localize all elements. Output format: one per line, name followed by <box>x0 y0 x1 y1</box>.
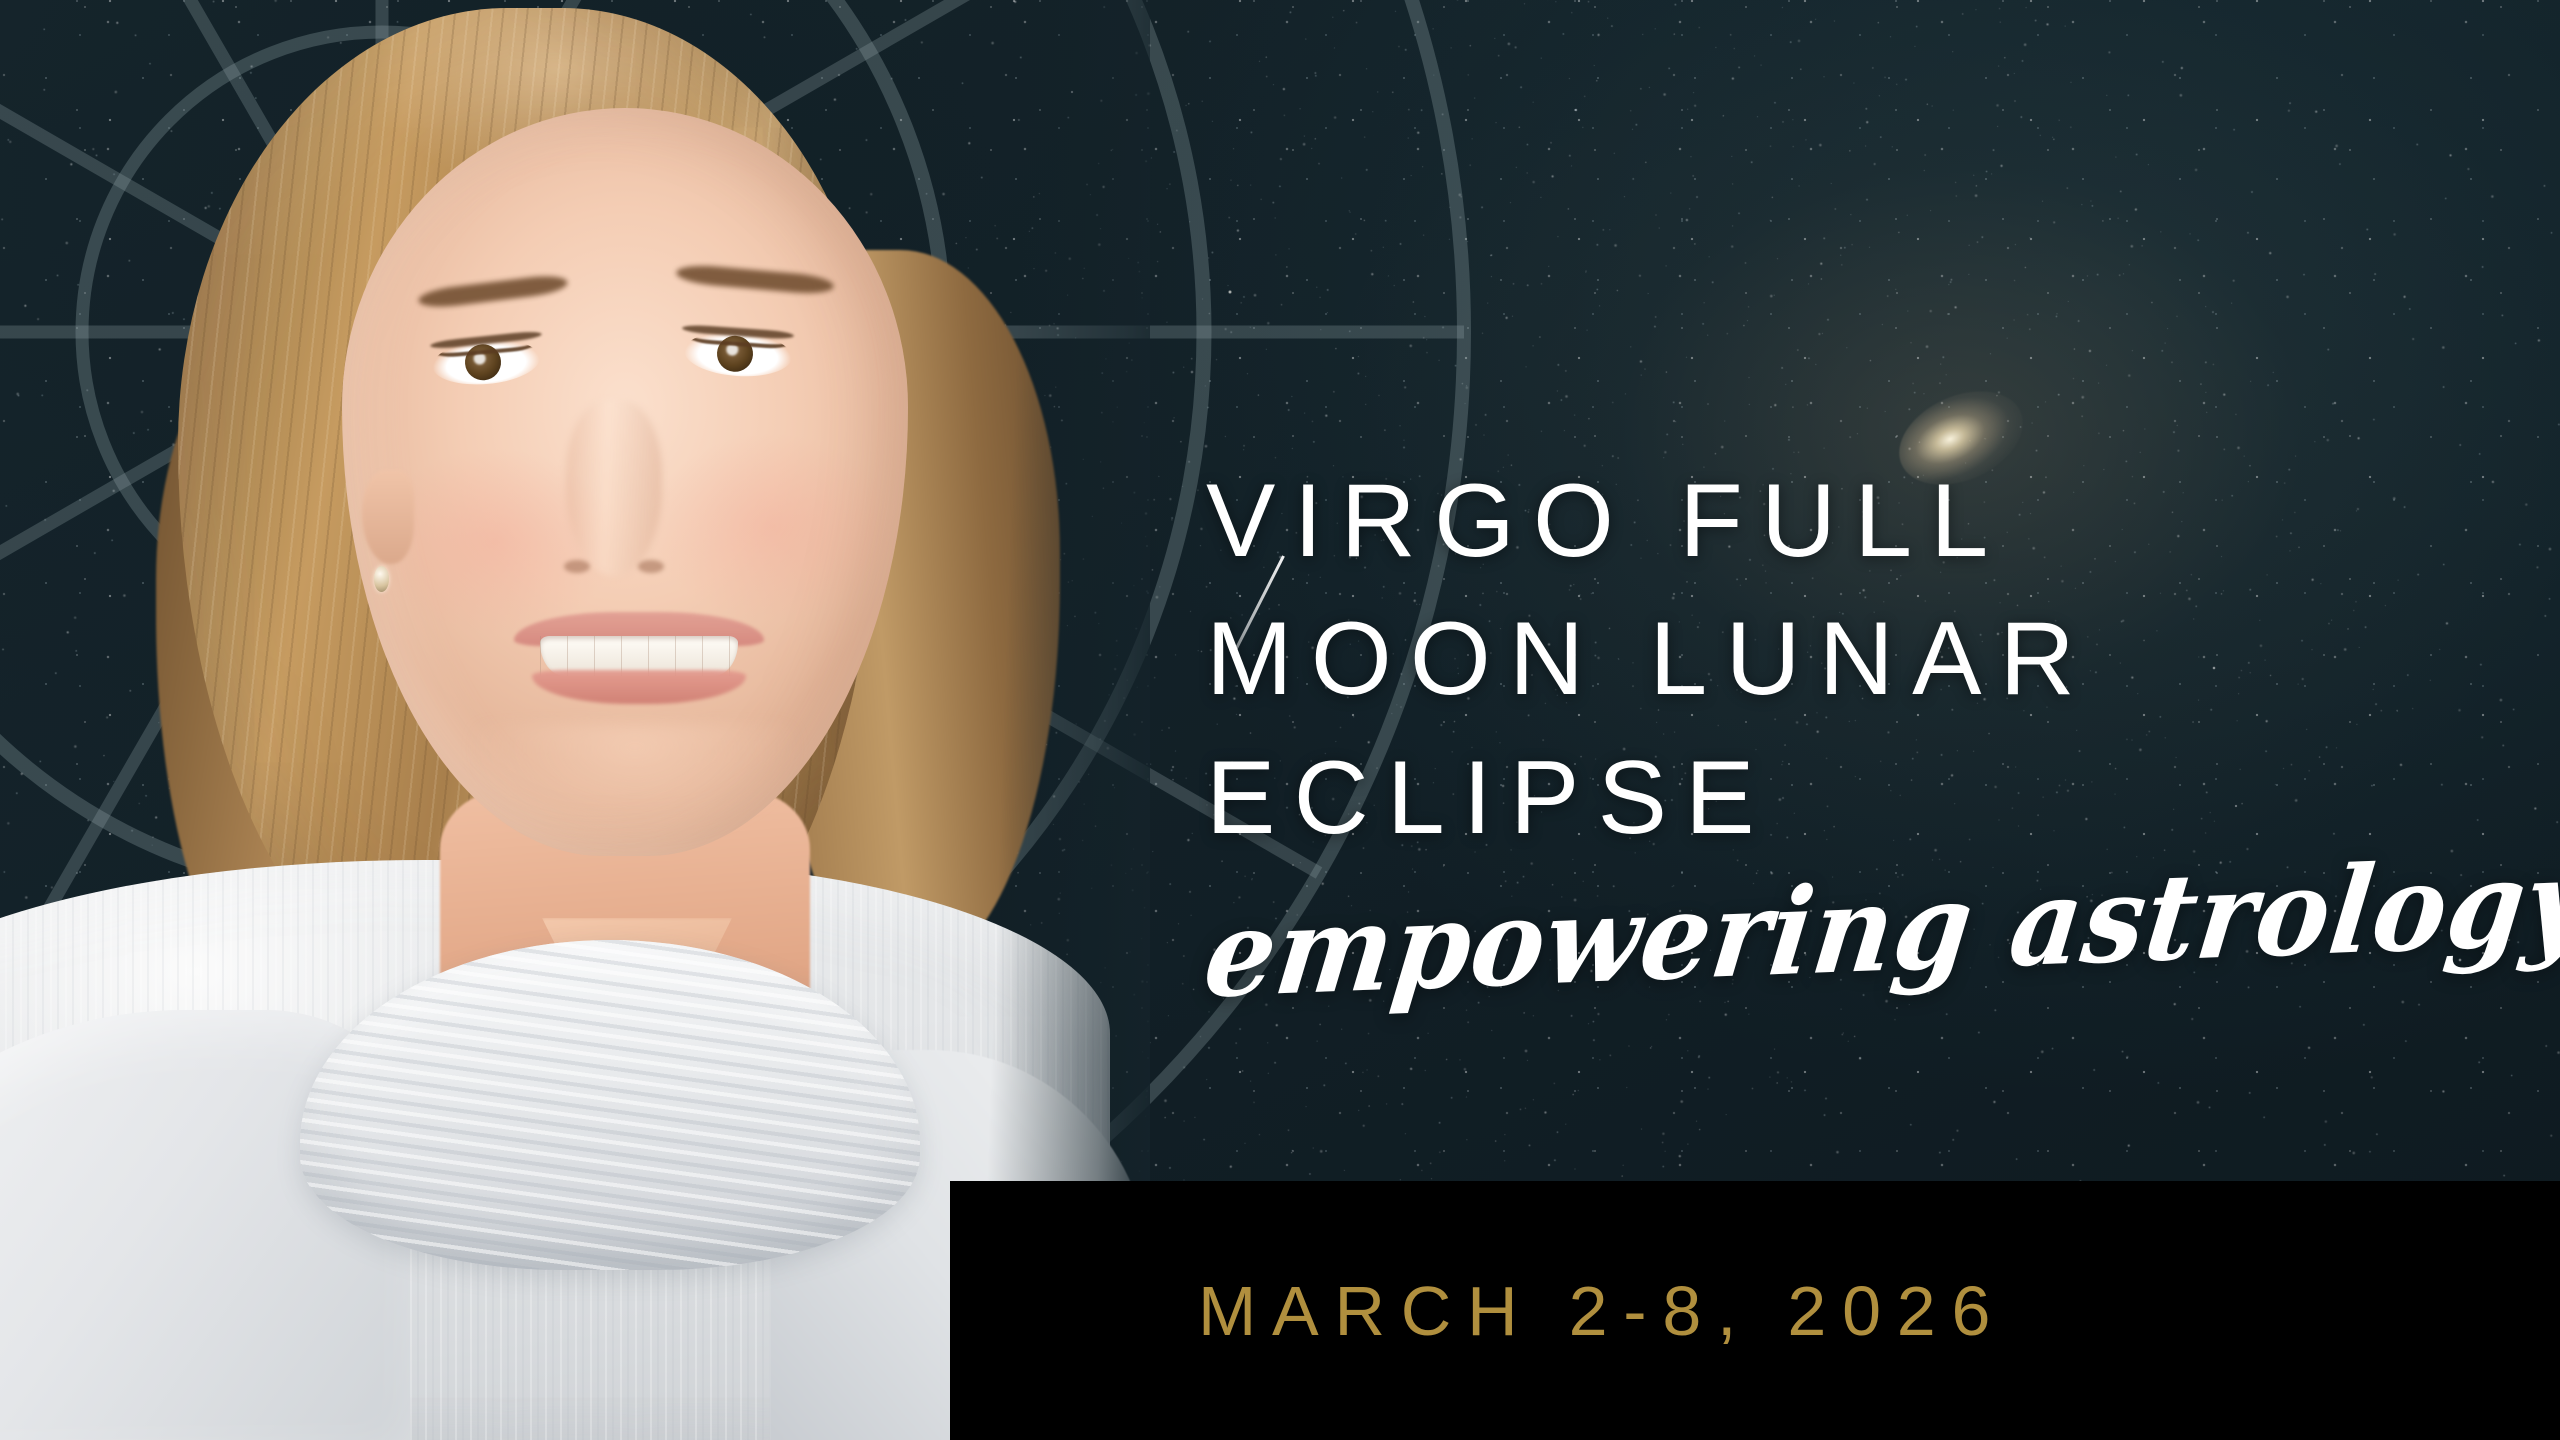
title-line-2: MOON LUNAR <box>1206 590 2446 728</box>
thumbnail-canvas: VIRGO FULL MOON LUNAR ECLIPSE empowering… <box>0 0 2560 1440</box>
title-line-1: VIRGO FULL <box>1206 452 2446 590</box>
date-banner: MARCH 2-8, 2026 <box>950 1181 2560 1440</box>
date-range-text: MARCH 2-8, 2026 <box>1198 1271 2006 1351</box>
title-block: VIRGO FULL MOON LUNAR ECLIPSE <box>1206 452 2446 867</box>
